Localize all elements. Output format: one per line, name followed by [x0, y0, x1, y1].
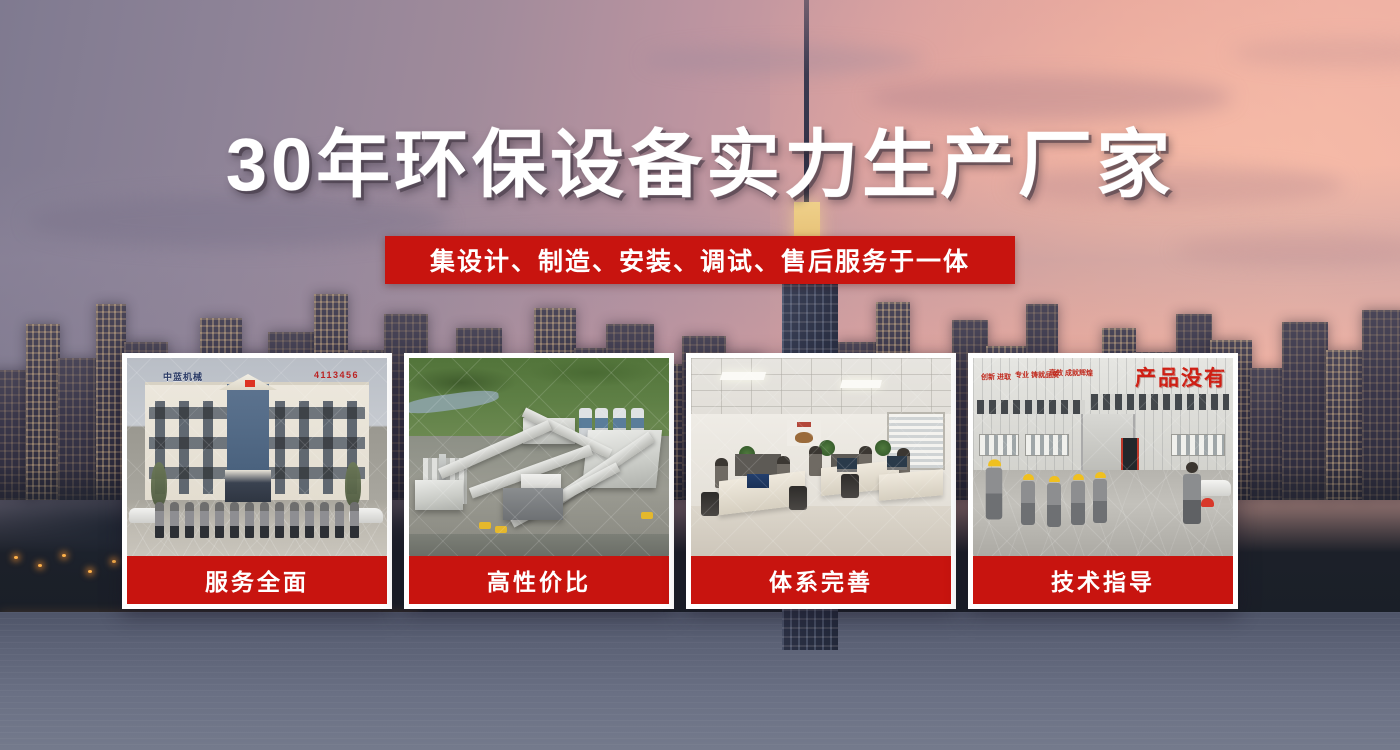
- subtitle-bar: 集设计、制造、安装、调试、售后服务于一体: [385, 236, 1015, 284]
- aerial-industrial-plant-photo: [409, 358, 669, 556]
- feature-card-caption: 服务全面: [127, 556, 387, 604]
- factory-workers-photo: 产品没有 创新 进取 专业 铸就品质 高效 成就辉煌: [973, 358, 1233, 556]
- page-title: 30年环保设备实力生产厂家: [0, 128, 1400, 202]
- feature-card-caption-text: 体系完善: [769, 563, 873, 597]
- feature-card-list: 中蓝机械 4113456 服务全面: [122, 353, 1238, 609]
- factory-slogan-text: 创新 进取: [981, 374, 1011, 382]
- river-water: [0, 612, 1400, 750]
- factory-banner-text: 产品没有: [1135, 362, 1227, 392]
- feature-card-caption: 高性价比: [409, 556, 669, 604]
- feature-card-caption-text: 服务全面: [205, 563, 309, 597]
- subtitle-text: 集设计、制造、安装、调试、售后服务于一体: [430, 242, 970, 278]
- feature-card[interactable]: 中蓝机械 4113456 服务全面: [122, 353, 392, 609]
- company-office-building-photo: 中蓝机械 4113456: [127, 358, 387, 556]
- feature-card-caption-text: 高性价比: [487, 563, 591, 597]
- feature-card-caption: 技术指导: [973, 556, 1233, 604]
- office-interior-photo: [691, 358, 951, 556]
- factory-slogan-text: 高效 成就辉煌: [1049, 370, 1093, 378]
- feature-card[interactable]: 产品没有 创新 进取 专业 铸就品质 高效 成就辉煌 技术指导: [968, 353, 1238, 609]
- feature-card[interactable]: 高性价比: [404, 353, 674, 609]
- building-phone-text: 4113456: [314, 370, 359, 380]
- cloud-icon: [644, 45, 924, 75]
- promo-banner: 30年环保设备实力生产厂家 集设计、制造、安装、调试、售后服务于一体 中蓝机械 …: [0, 0, 1400, 750]
- cloud-icon: [868, 75, 1232, 120]
- feature-card-caption: 体系完善: [691, 556, 951, 604]
- feature-card[interactable]: 体系完善: [686, 353, 956, 609]
- feature-card-caption-text: 技术指导: [1051, 563, 1155, 597]
- building-sign-text: 中蓝机械: [163, 370, 203, 383]
- red-helmet-icon: [1201, 498, 1214, 507]
